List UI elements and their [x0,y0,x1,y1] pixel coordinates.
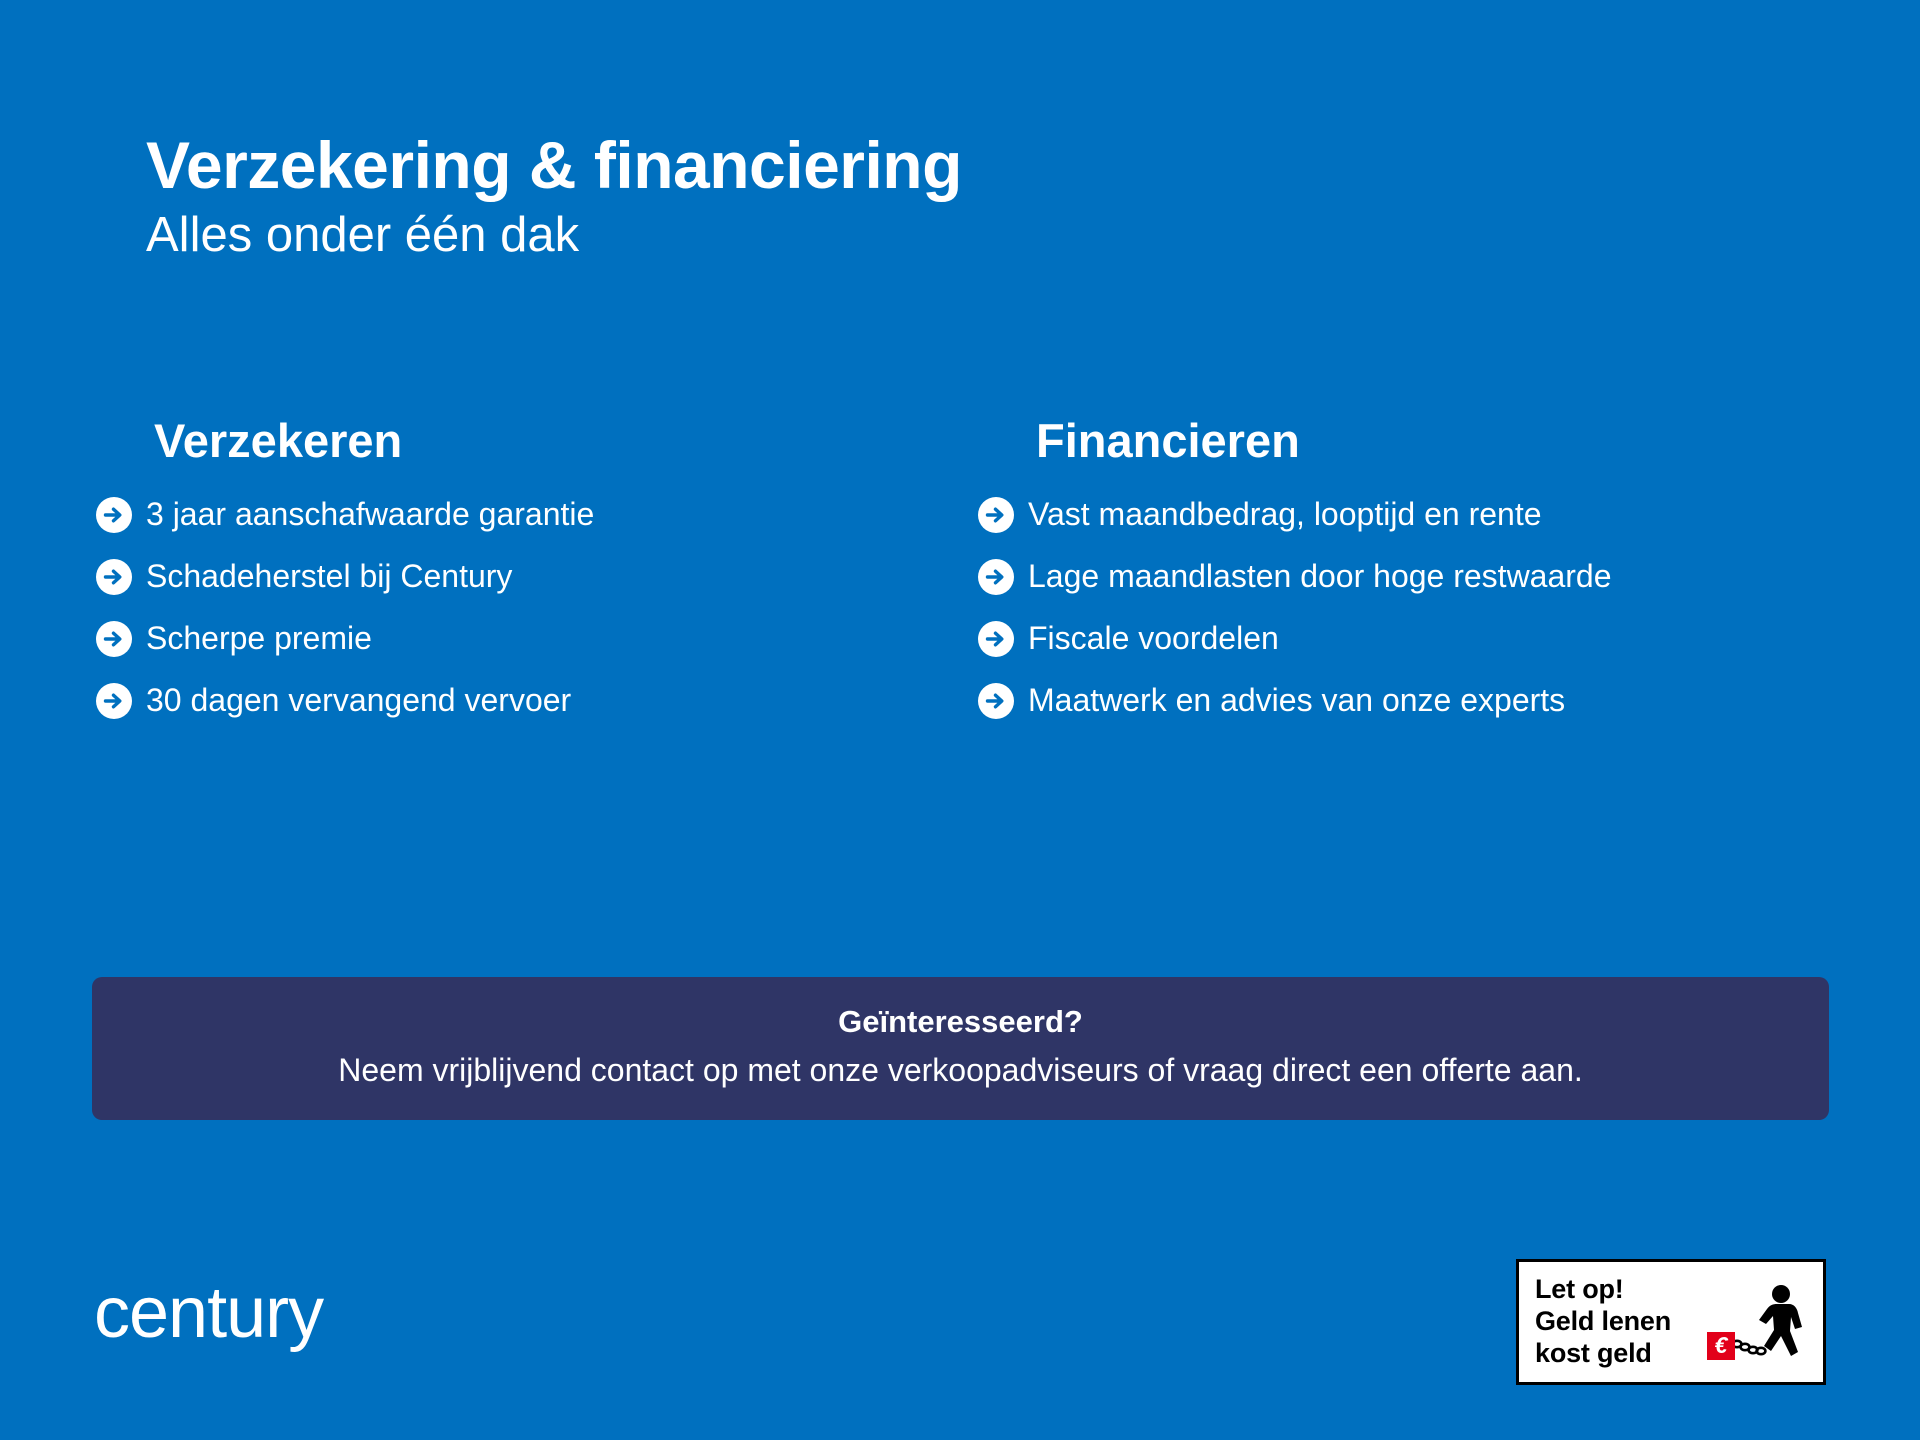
warning-box-geld-lenen: Let op! Geld lenen kost geld [1516,1259,1826,1385]
feature-list-financieren: Vast maandbedrag, looptijd en rente Lage… [978,495,1838,721]
feature-label: 30 dagen vervangend vervoer [146,682,571,719]
feature-label: 3 jaar aanschafwaarde garantie [146,496,594,533]
column-heading-financieren: Financieren [1036,415,1838,467]
arrow-right-circle-icon [96,683,132,719]
list-item: Schadeherstel bij Century [96,557,956,597]
slide-canvas: Verzekering & financiering Alles onder é… [0,0,1920,1440]
column-verzekeren: Verzekeren 3 jaar aanschafwaarde garanti… [96,415,956,743]
feature-label: Schadeherstel bij Century [146,558,512,595]
warning-line-3: kost geld [1535,1338,1671,1370]
feature-label: Scherpe premie [146,620,372,657]
arrow-right-circle-icon [96,497,132,533]
arrow-right-circle-icon [978,559,1014,595]
list-item: Scherpe premie [96,619,956,659]
arrow-right-circle-icon [96,559,132,595]
callout-title: Geïnteresseerd? [122,1003,1799,1040]
header-block: Verzekering & financiering Alles onder é… [146,132,1646,263]
century-logo: century [94,1277,323,1349]
page-title: Verzekering & financiering [146,132,1646,199]
warning-line-1: Let op! [1535,1274,1671,1306]
list-item: Lage maandlasten door hoge restwaarde [978,557,1838,597]
warning-text-block: Let op! Geld lenen kost geld [1535,1274,1671,1370]
feature-label: Vast maandbedrag, looptijd en rente [1028,496,1542,533]
walking-person-with-chain-icon: € [1703,1278,1815,1374]
feature-list-verzekeren: 3 jaar aanschafwaarde garantie Schadeher… [96,495,956,721]
arrow-right-circle-icon [96,621,132,657]
feature-label: Fiscale voordelen [1028,620,1279,657]
euro-symbol: € [1715,1332,1729,1358]
arrow-right-circle-icon [978,497,1014,533]
arrow-right-circle-icon [978,683,1014,719]
feature-label: Maatwerk en advies van onze experts [1028,682,1565,719]
feature-columns: Verzekeren 3 jaar aanschafwaarde garanti… [96,415,1856,743]
feature-label: Lage maandlasten door hoge restwaarde [1028,558,1612,595]
list-item: 30 dagen vervangend vervoer [96,681,956,721]
list-item: Fiscale voordelen [978,619,1838,659]
callout-banner: Geïnteresseerd? Neem vrijblijvend contac… [92,977,1829,1120]
list-item: 3 jaar aanschafwaarde garantie [96,495,956,535]
page-subtitle: Alles onder één dak [146,209,1646,263]
warning-line-2: Geld lenen [1535,1306,1671,1338]
list-item: Maatwerk en advies van onze experts [978,681,1838,721]
column-heading-verzekeren: Verzekeren [154,415,956,467]
arrow-right-circle-icon [978,621,1014,657]
list-item: Vast maandbedrag, looptijd en rente [978,495,1838,535]
column-financieren: Financieren Vast maandbedrag, looptijd e… [978,415,1838,743]
callout-body: Neem vrijblijvend contact op met onze ve… [122,1050,1799,1090]
